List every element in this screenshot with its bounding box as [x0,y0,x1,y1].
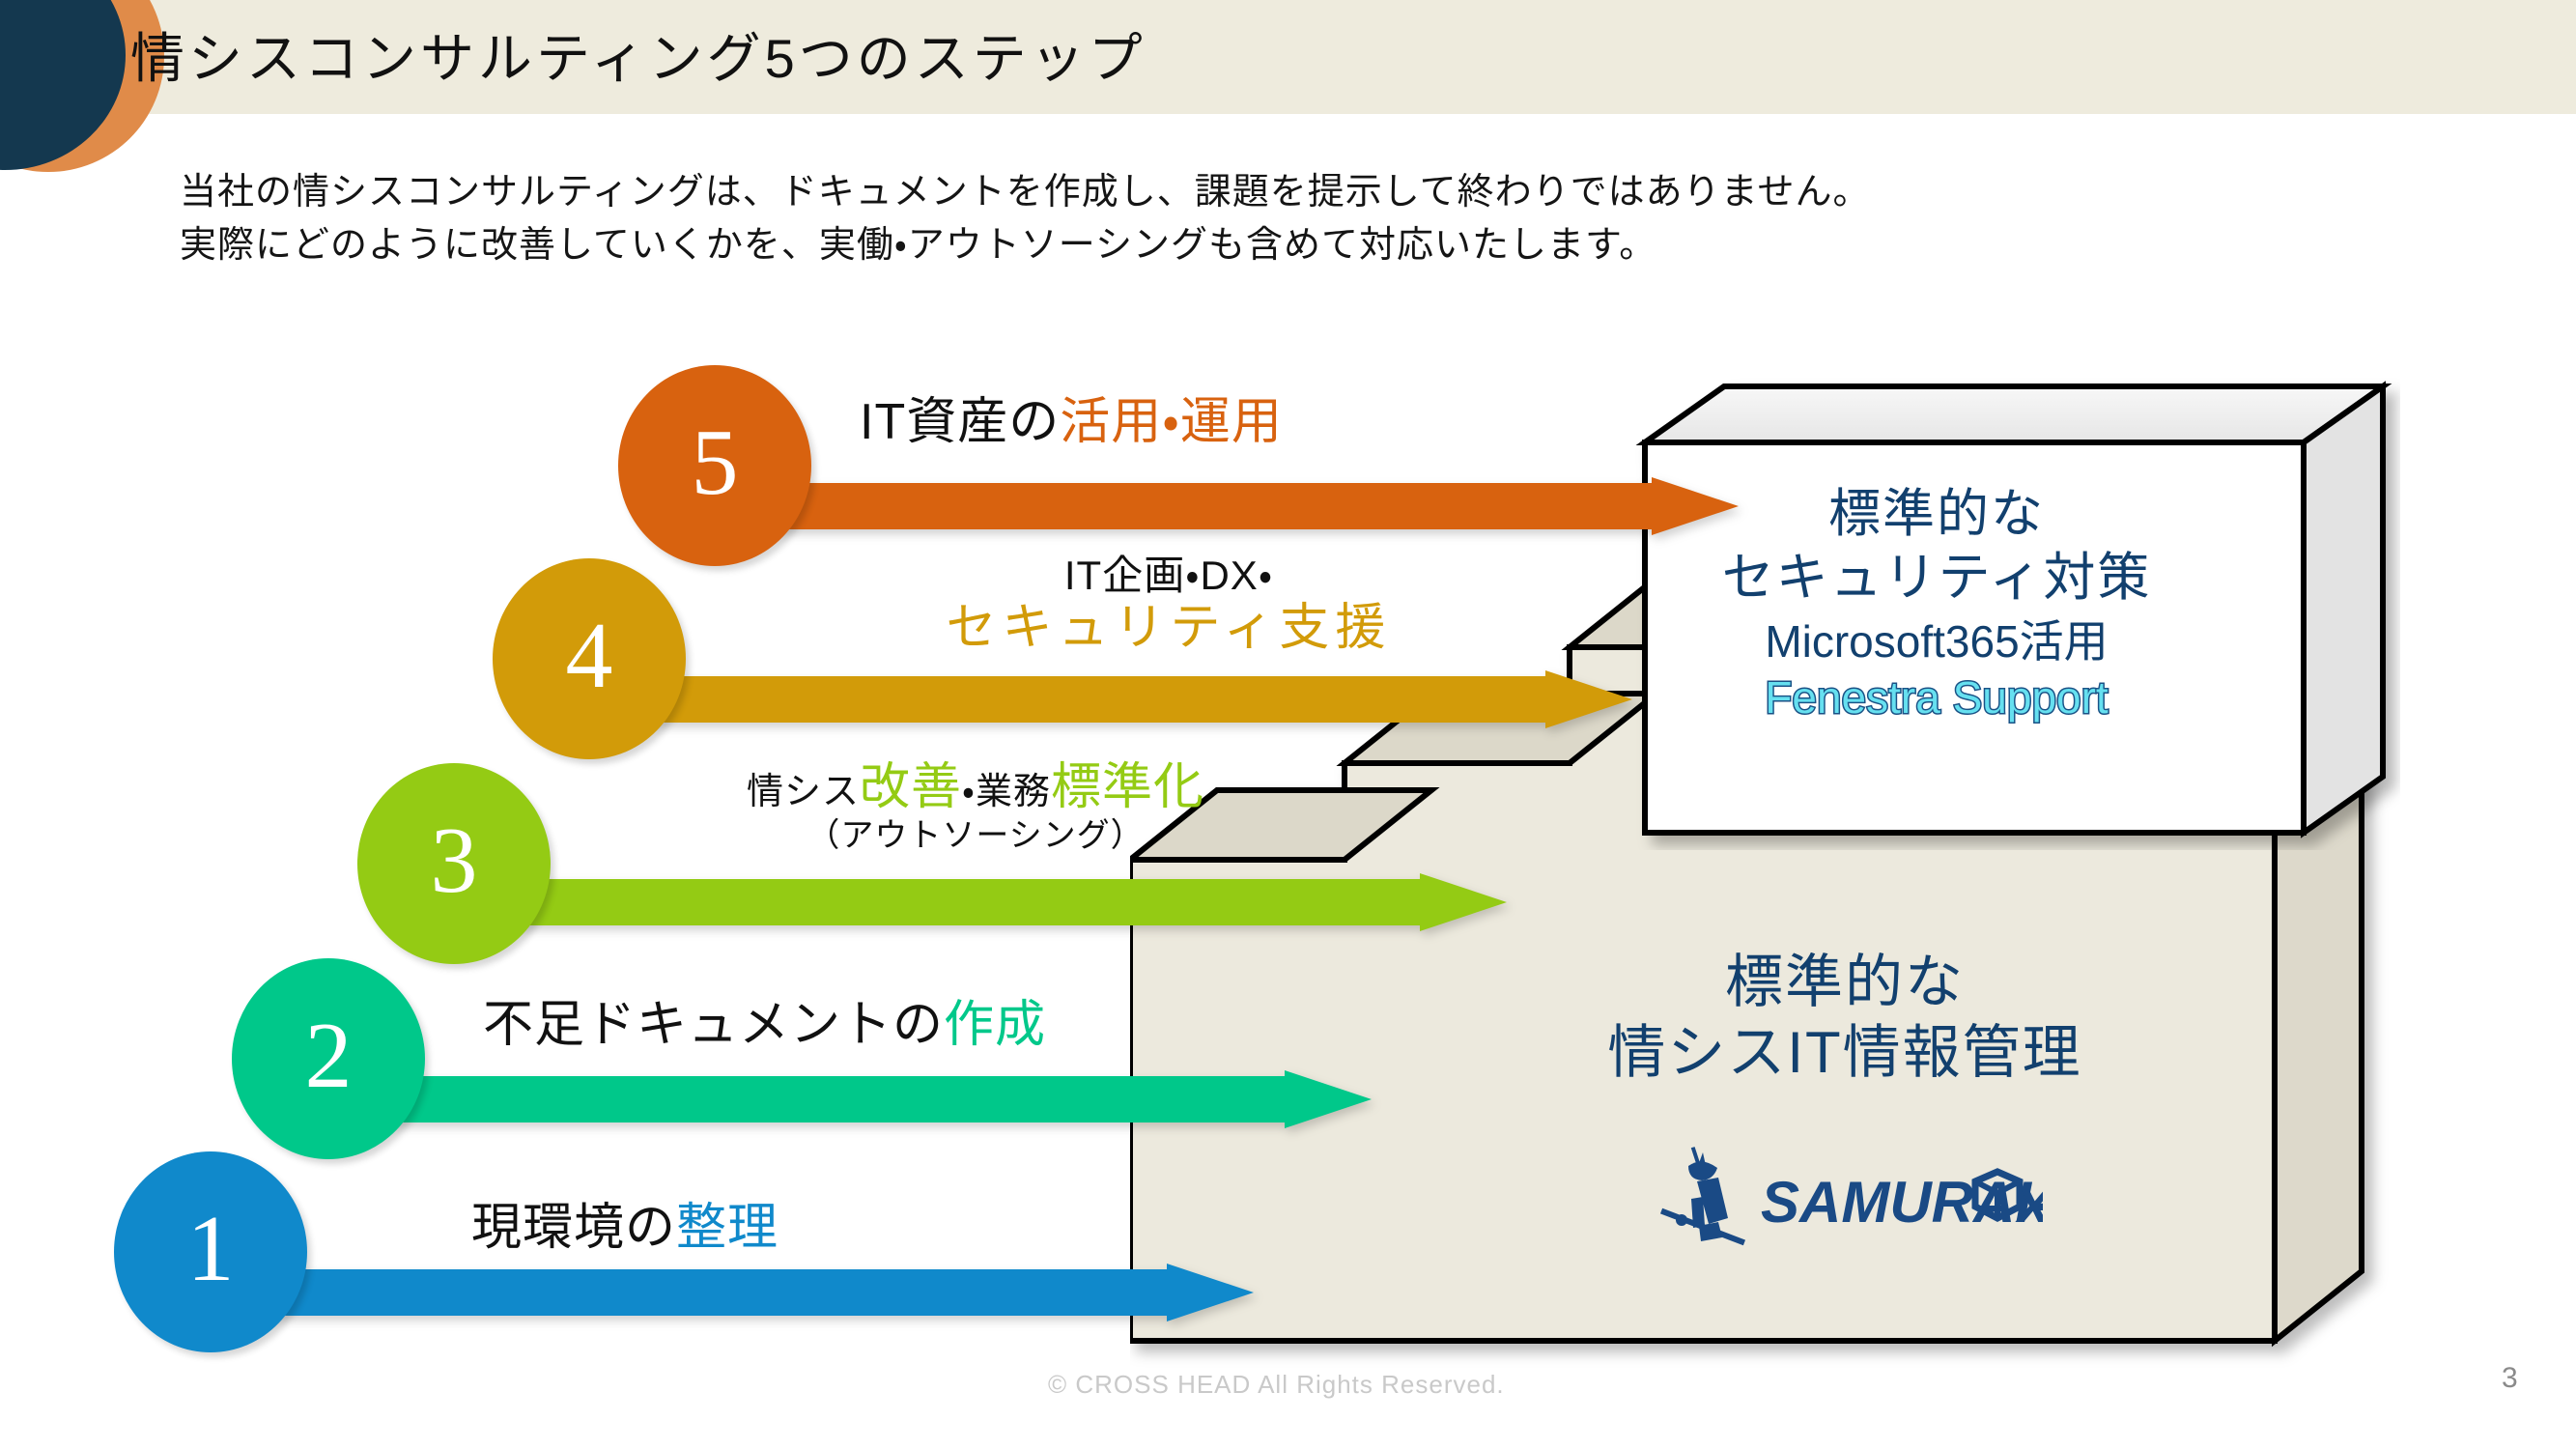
step-3-number: 3 [357,763,551,964]
step-4-caption-black: IT企画・DX・ [1064,553,1273,598]
footer-copyright: © CROSS HEAD All Rights Reserved. [1048,1370,1505,1400]
step-3-caption: 情シス改善・業務標準化 （アウトソーシング） [609,759,1343,855]
standard-box-line-1: 標準的な [1449,947,2241,1017]
step-5-number: 5 [618,365,811,566]
step-2-caption-black: 不足ドキュメントの [483,997,944,1053]
step-2-arrow [348,1070,1372,1115]
page-title: 情シスコンサルティング5つのステップ [130,15,1146,94]
step-3-caption-black-1: 情シス [747,772,860,812]
step-1-number: 1 [114,1151,307,1352]
step-4-number: 4 [493,558,686,759]
standard-box-text: 標準的な 情シスIT情報管理 [1449,947,2241,1088]
step-1-number-bubble[interactable]: 1 [114,1151,307,1352]
step-3-number-bubble[interactable]: 3 [357,763,551,964]
lead-line-2: 実際にどのように改善していくかを、実働・アウトソーシングも含めて対応いたします。 [180,219,1870,272]
step-3-caption-accent-1: 改善 [860,759,962,815]
slide-root: 情シスコンサルティング5つのステップ 当社の情シスコンサルティングは、ドキュメン… [0,0,2576,1449]
step-5-arrow [734,477,1739,522]
step-4-caption-accent: セキュリティ支援 [947,600,1392,656]
step-1-caption-black: 現環境の [471,1200,676,1256]
security-box-line-2: セキュリティ対策 [1589,547,2284,611]
step-1-caption: 現環境の整理 [471,1200,778,1258]
step-3-caption-sub: （アウトソーシング） [609,817,1343,855]
step-4-arrow [609,670,1632,715]
step-3-arrow [473,873,1507,918]
security-box-line-4: Fenestra Support [1589,670,2284,724]
security-box-line-3: Microsoft365活用 [1589,614,2284,668]
samurai-box-wordmark: SAMURAI-B [1761,1170,2043,1235]
step-4-caption: IT企画・DX・ セキュリティ支援 [802,549,1536,658]
step-5-caption: IT資産の活用・運用 [860,394,1283,452]
step-2-number: 2 [232,958,425,1159]
step-3-caption-black-2: ・業務 [962,772,1051,812]
standard-box-line-2: 情シスIT情報管理 [1449,1017,2241,1088]
step-3-caption-accent-2: 標準化 [1051,759,1204,815]
samurai-box-logo: SAMURAI-B x [1656,1145,2043,1251]
step-5-caption-black: IT資産の [860,394,1060,450]
step-2-caption: 不足ドキュメントの作成 [483,997,1046,1055]
samurai-box-wordmark-tail: x [2015,1170,2043,1235]
footer-page-number: 3 [2502,1362,2518,1395]
step-5-caption-accent: 活用・運用 [1060,394,1283,450]
step-2-number-bubble[interactable]: 2 [232,958,425,1159]
step-1-arrow [230,1264,1254,1308]
step-4-number-bubble[interactable]: 4 [493,558,686,759]
step-5-number-bubble[interactable]: 5 [618,365,811,566]
lead-line-1: 当社の情シスコンサルティングは、ドキュメントを作成し、課題を提示して終わりではあ… [180,166,1870,219]
samurai-figure-icon [1660,1147,1745,1245]
step-1-caption-accent: 整理 [676,1200,778,1256]
lead-paragraph: 当社の情シスコンサルティングは、ドキュメントを作成し、課題を提示して終わりではあ… [180,166,1870,272]
step-2-caption-accent: 作成 [944,997,1046,1053]
